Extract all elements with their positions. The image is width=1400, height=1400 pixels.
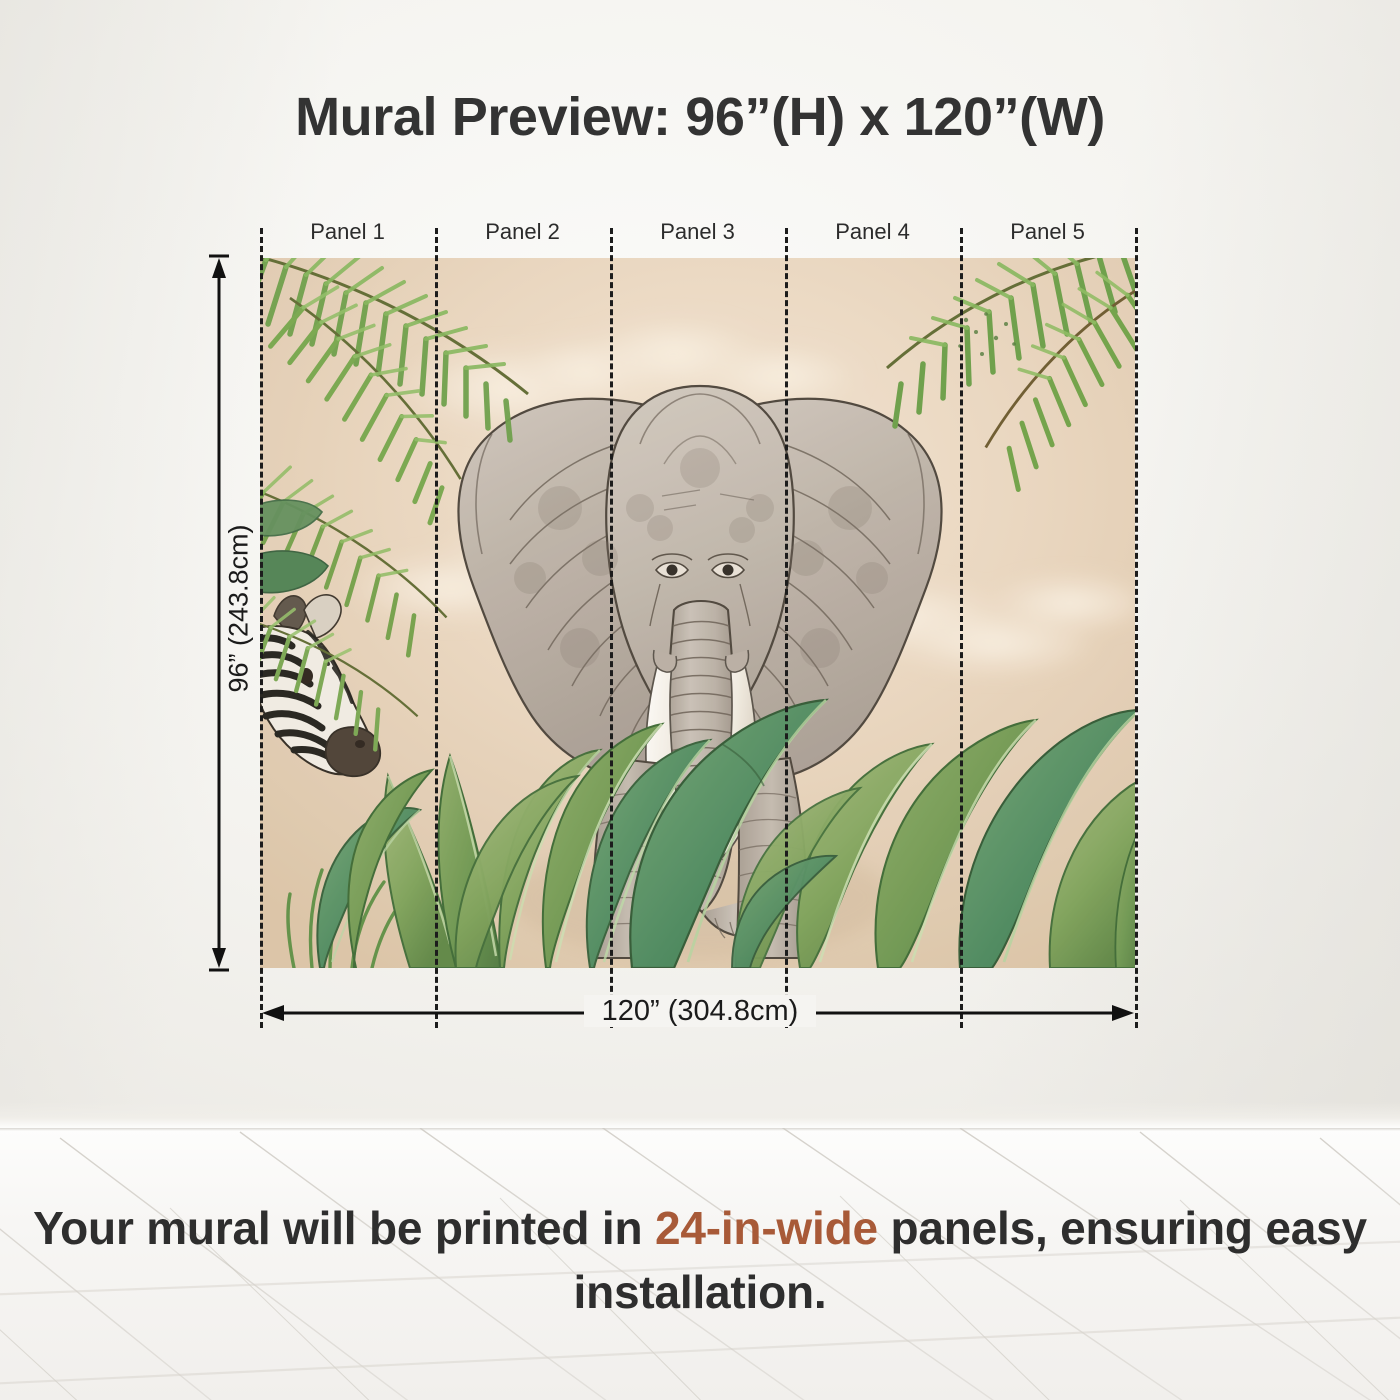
panel-label-1: Panel 1 xyxy=(260,215,435,249)
page-title: Mural Preview: 96”(H) x 120”(W) xyxy=(0,86,1400,148)
floor-baseboard-line xyxy=(0,1128,1400,1131)
panel-divider-edge-left xyxy=(260,228,263,1028)
panel-divider-1 xyxy=(435,228,438,1028)
mural-preview-image xyxy=(260,258,1135,968)
panel-label-4: Panel 4 xyxy=(785,215,960,249)
height-dimension-line: 96” (243.8cm) xyxy=(203,252,235,974)
panel-label-5: Panel 5 xyxy=(960,215,1135,249)
caption-highlight: 24-in-wide xyxy=(655,1202,878,1254)
wall-base-shadow xyxy=(0,1102,1400,1128)
panel-label-2: Panel 2 xyxy=(435,215,610,249)
footer-caption: Your mural will be printed in 24-in-wide… xyxy=(0,1196,1400,1324)
caption-prefix: Your mural will be printed in xyxy=(33,1202,655,1254)
panel-divider-3 xyxy=(785,228,788,1028)
panel-divider-edge-right xyxy=(1135,228,1138,1028)
height-dimension-label: 96” (243.8cm) xyxy=(224,449,255,769)
mural-artwork xyxy=(260,258,1135,968)
panel-label-3: Panel 3 xyxy=(610,215,785,249)
width-dimension-line xyxy=(258,998,1138,1028)
panel-label-row: Panel 1 Panel 2 Panel 3 Panel 4 Panel 5 xyxy=(260,215,1135,249)
panel-divider-2 xyxy=(610,228,613,1028)
panel-divider-4 xyxy=(960,228,963,1028)
